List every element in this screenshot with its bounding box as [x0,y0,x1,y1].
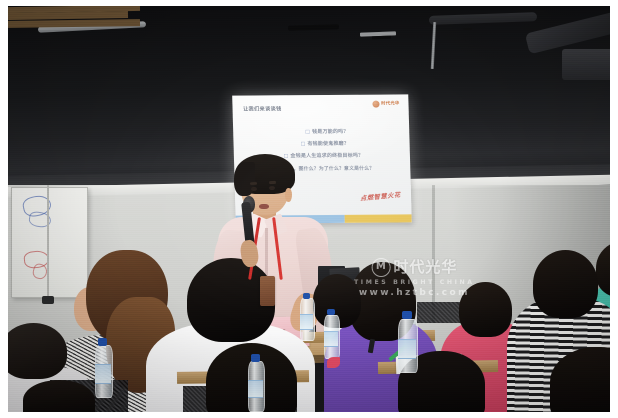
badge-holder [260,276,275,306]
whiteboard-rail [47,185,49,299]
water-bottle [95,345,111,396]
audience-hair [533,250,598,318]
hair-clip-icon [327,357,340,368]
audience-hair [550,347,610,412]
whiteboard-stand-foot [42,296,54,304]
audience-member [14,380,104,412]
bottle-label [95,364,111,383]
bottle-cap [303,293,310,299]
ceiling-duct-icon [562,49,610,80]
audience-hair [8,323,67,380]
speaker-mouth [259,204,269,209]
ceiling-vent-icon [288,25,339,31]
lecture-photo: 让我们来谈谈钱 时代光华 钱是万能的吗？ 有钱能使鬼推磨？ 金钱是人生追求的终极… [8,6,610,412]
ceiling-vent-icon [372,36,391,40]
ceiling-fixture-icon [463,28,473,30]
desk-row-edge [8,19,140,28]
ceiling-pipe-icon [431,22,436,69]
speaker-ear [285,188,292,203]
photo-frame: 让我们来谈谈钱 时代光华 钱是万能的吗？ 有钱能使鬼推磨？ 金钱是人生追求的终极… [0,0,618,418]
bottle-label [324,331,338,347]
water-bottle [300,298,313,339]
bottle-cap [98,338,107,346]
speaker-eye [251,187,257,192]
ceiling-duct-icon [429,12,538,25]
bottle-cap [327,309,335,315]
water-bottle [398,319,415,372]
bottle-cap [251,354,260,361]
list-item: 钱是万能的吗？ [241,128,405,136]
bottle-cap [402,311,412,319]
list-item: 有钱能使鬼推磨？ [241,140,405,148]
audience-member [538,347,610,412]
bottle-label [248,380,264,399]
audience-hair [459,282,511,337]
bottle-label [398,339,415,359]
bottle-label [300,314,313,330]
water-bottle [324,315,338,358]
brand-mark-icon [373,101,380,108]
slide-calligraphy: 点燃智慧火花 [360,190,402,203]
slide-footer-bar-right [345,214,412,223]
slide-logo-text: 时代光华 [381,102,400,107]
audience-hair [23,380,95,412]
slide-logo: 时代光华 [373,101,400,108]
slide-title: 让我们来谈谈钱 [243,105,282,112]
speaker-hair [234,162,255,196]
ceiling-duct-icon [525,10,610,54]
water-bottle [248,361,264,410]
